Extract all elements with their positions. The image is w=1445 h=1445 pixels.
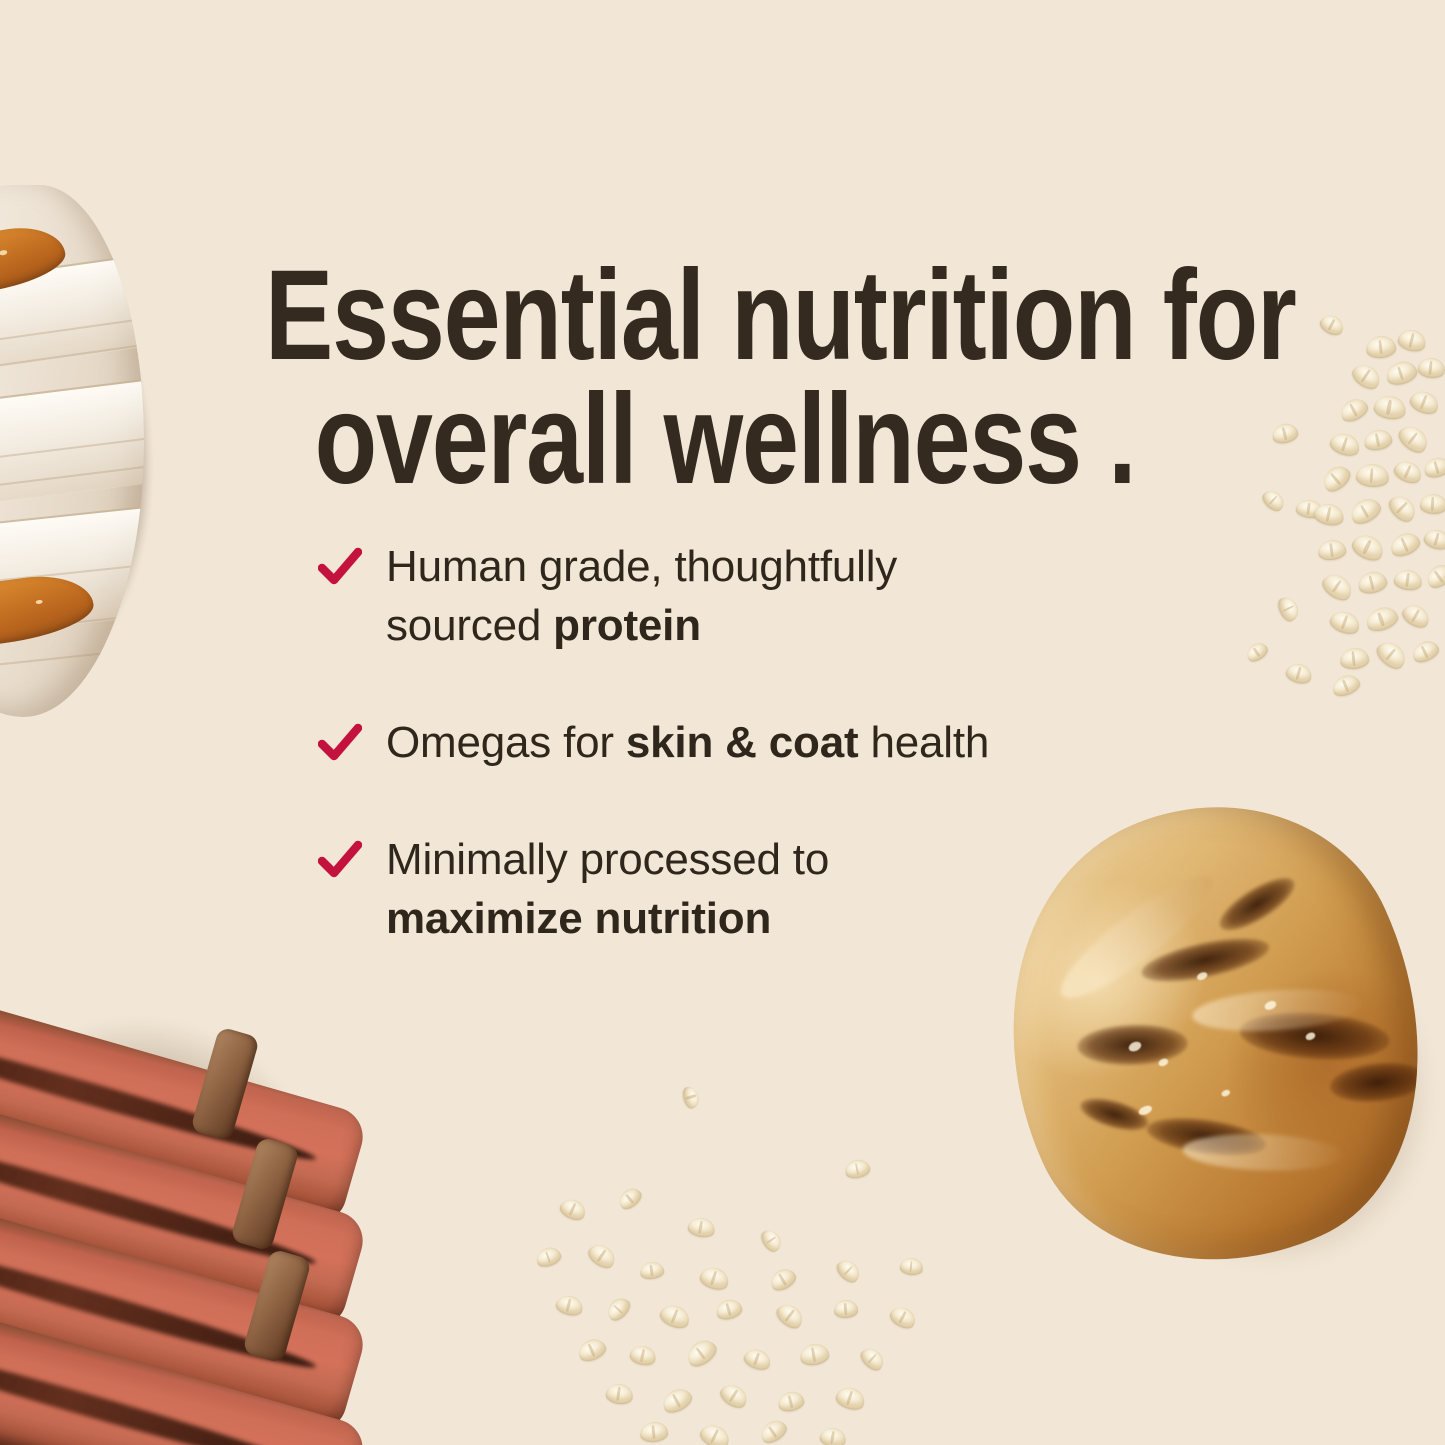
benefit-line-1: Human grade, thoughtfully [386, 538, 897, 597]
benefit-text-tail: health [858, 718, 989, 767]
benefit-text: Minimally processed to maximize nutritio… [386, 831, 829, 949]
page-title: Essential nutrition for overall wellness… [265, 254, 1185, 502]
headline-line-2: overall wellness . [265, 378, 1185, 502]
benefit-line-2-plain: sourced [386, 601, 553, 650]
list-item: Minimally processed to maximize nutritio… [318, 831, 1178, 949]
list-item: Omegas for skin & coat health [318, 714, 1178, 773]
benefit-line-2-bold: protein [553, 601, 701, 650]
content-layer: Essential nutrition for overall wellness… [0, 0, 1445, 1445]
headline-line-1: Essential nutrition for [265, 254, 1185, 378]
benefits-list: Human grade, thoughtfully sourced protei… [318, 538, 1178, 949]
benefit-line-2: sourced protein [386, 597, 897, 656]
list-item: Human grade, thoughtfully sourced protei… [318, 538, 1178, 656]
benefit-text: Omegas for skin & coat health [386, 714, 989, 773]
benefit-text-bold: skin & coat [626, 718, 859, 767]
check-icon [318, 546, 362, 590]
benefit-text-lead: Omegas for [386, 718, 626, 767]
benefit-line-2-bold: maximize nutrition [386, 890, 829, 949]
check-icon [318, 839, 362, 883]
benefit-text: Human grade, thoughtfully sourced protei… [386, 538, 897, 656]
benefit-line-1: Minimally processed to [386, 831, 829, 890]
promo-banner: Essential nutrition for overall wellness… [0, 0, 1445, 1445]
check-icon [318, 722, 362, 766]
